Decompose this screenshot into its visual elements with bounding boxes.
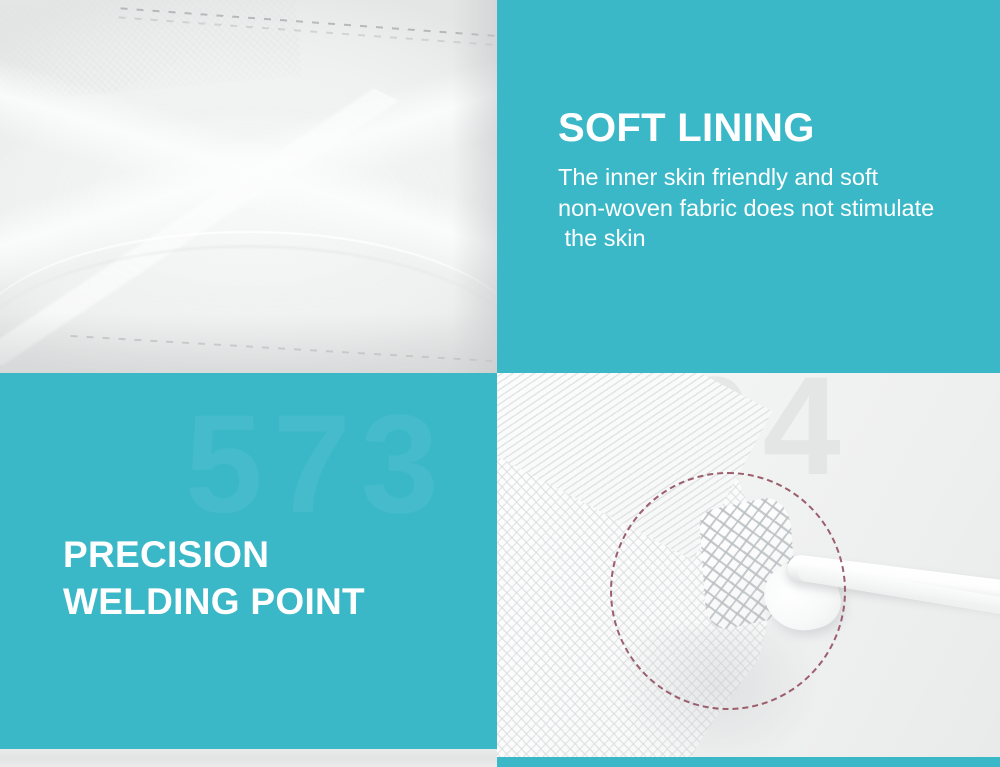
soft-lining-description: The inner skin friendly and soft non-wov… — [558, 162, 998, 254]
soft-lining-panel: SOFT LINING The inner skin friendly and … — [497, 0, 1000, 373]
watermark-digits: 573 — [185, 383, 449, 545]
infographic-canvas: SOFT LINING The inner skin friendly and … — [0, 0, 1000, 767]
soft-lining-body-line-2: non-woven fabric does not stimulate — [558, 193, 998, 224]
photo-right-shadow — [452, 0, 497, 373]
soft-lining-body-line-1: The inner skin friendly and soft — [558, 162, 998, 193]
welding-point-heading: PRECISION WELDING POINT — [63, 531, 483, 626]
soft-lining-text-block: SOFT LINING The inner skin friendly and … — [558, 108, 998, 254]
precision-welding-point-panel: 573 PRECISION WELDING POINT — [0, 373, 497, 749]
soft-lining-heading: SOFT LINING — [558, 108, 998, 148]
welding-point-heading-line-2: WELDING POINT — [63, 578, 483, 625]
welding-point-photo: 804 — [497, 373, 1000, 757]
welding-point-highlight-circle — [610, 472, 846, 710]
mask-inner-lining-photo — [0, 0, 497, 373]
bottom-left-footer-strip — [0, 749, 497, 767]
photo-bottom-shadow — [0, 313, 497, 373]
welding-point-heading-line-1: PRECISION — [63, 531, 483, 578]
soft-lining-body-line-3: the skin — [558, 223, 998, 254]
welding-point-text-block: PRECISION WELDING POINT — [63, 531, 483, 626]
bottom-right-accent-strip — [497, 757, 1000, 767]
